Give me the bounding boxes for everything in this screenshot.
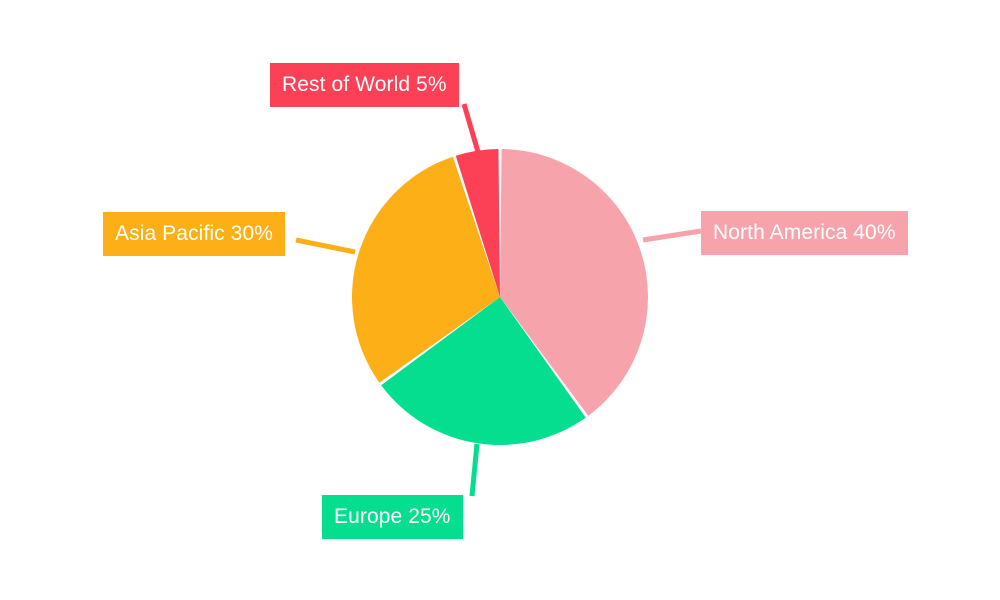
- leader-line-rest-of-world: [464, 104, 478, 152]
- leader-line-europe: [472, 444, 477, 496]
- pie-label-rest-of-world: Rest of World 5%: [270, 63, 459, 107]
- pie-label-asia-pacific: Asia Pacific 30%: [103, 212, 285, 256]
- pie-slice-group: [352, 149, 648, 445]
- pie-label-north-america: North America 40%: [701, 211, 908, 255]
- pie-chart-canvas: [0, 0, 1000, 600]
- pie-chart-figure: North America 40% Europe 25% Asia Pacifi…: [0, 0, 1000, 600]
- leader-line-asia-pacific: [296, 240, 355, 252]
- pie-label-europe: Europe 25%: [322, 495, 463, 539]
- leader-line-north-america: [643, 231, 701, 240]
